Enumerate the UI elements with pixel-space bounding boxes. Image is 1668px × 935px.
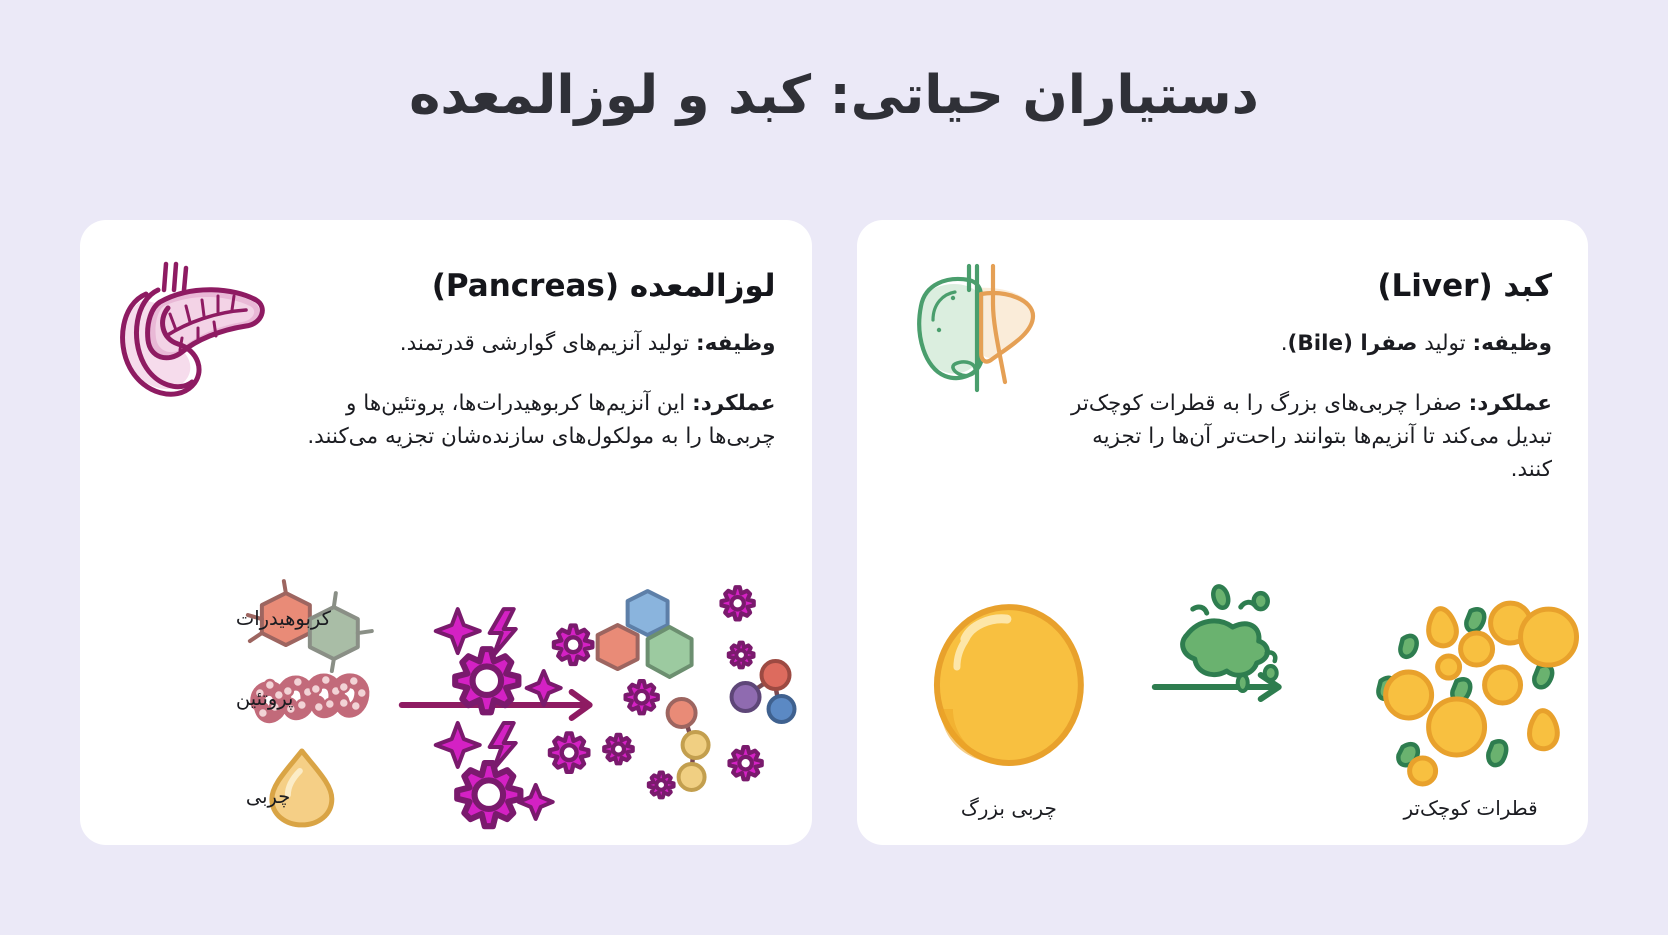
pancreas-input-label-fat: چربی (246, 785, 290, 808)
pancreas-card-header: لوزالمعده (Pancreas) وظیفه: تولید آنزیم‌… (80, 220, 812, 453)
liver-process-arrow (1154, 675, 1278, 699)
pancreas-title: لوزالمعده (Pancreas) (279, 268, 776, 305)
small-fat-droplets (1378, 603, 1576, 784)
liver-function-bold: صفرا (Bile) (1288, 331, 1418, 356)
liver-title: کبد (Liver) (1056, 268, 1553, 305)
liver-input-label: چربی بزرگ (960, 796, 1056, 820)
liver-function: وظیفه: تولید صفرا (Bile). (1056, 327, 1553, 360)
broken-down-molecules (598, 587, 795, 797)
pancreas-input-label-protein: پروتئین (236, 687, 294, 710)
liver-function-label: وظیفه: (1472, 331, 1552, 356)
liver-action-label: عملکرد: (1469, 391, 1552, 416)
liver-function-tail: . (1281, 331, 1288, 356)
pancreas-function-label: وظیفه: (696, 331, 776, 356)
card-pancreas[interactable]: لوزالمعده (Pancreas) وظیفه: تولید آنزیم‌… (80, 220, 812, 845)
liver-function-text: تولید (1417, 331, 1472, 356)
liver-diagram: چربی بزرگ قطرات کوچک‌تر (857, 575, 1589, 845)
pancreas-function-text: تولید آنزیم‌های گوارشی قدرتمند. (400, 331, 696, 356)
card-liver[interactable]: کبد (Liver) وظیفه: تولید صفرا (Bile). عم… (857, 220, 1589, 845)
pancreas-action: عملکرد: این آنزیم‌ها کربوهیدرات‌ها، پروت… (279, 387, 776, 454)
pancreas-function: وظیفه: تولید آنزیم‌های گوارشی قدرتمند. (279, 327, 776, 360)
large-fat-globule (936, 607, 1080, 763)
pancreas-input-label-carbohydrate: کربوهیدرات (236, 607, 332, 630)
page-title: دستیاران حیاتی: کبد و لوزالمعده (0, 0, 1668, 128)
liver-output-label: قطرات کوچک‌تر (1402, 796, 1537, 820)
pancreas-action-label: عملکرد: (692, 391, 775, 416)
pancreas-diagram: کربوهیدرات (80, 575, 812, 845)
organ-cards-row: کبد (Liver) وظیفه: تولید صفرا (Bile). عم… (80, 220, 1588, 845)
pancreas-organ-icon (104, 250, 279, 400)
liver-action: عملکرد: صفرا چربی‌های بزرگ را به قطرات ک… (1056, 387, 1553, 487)
liver-card-header: کبد (Liver) وظیفه: تولید صفرا (Bile). عم… (857, 220, 1589, 486)
liver-organ-icon (881, 250, 1056, 400)
